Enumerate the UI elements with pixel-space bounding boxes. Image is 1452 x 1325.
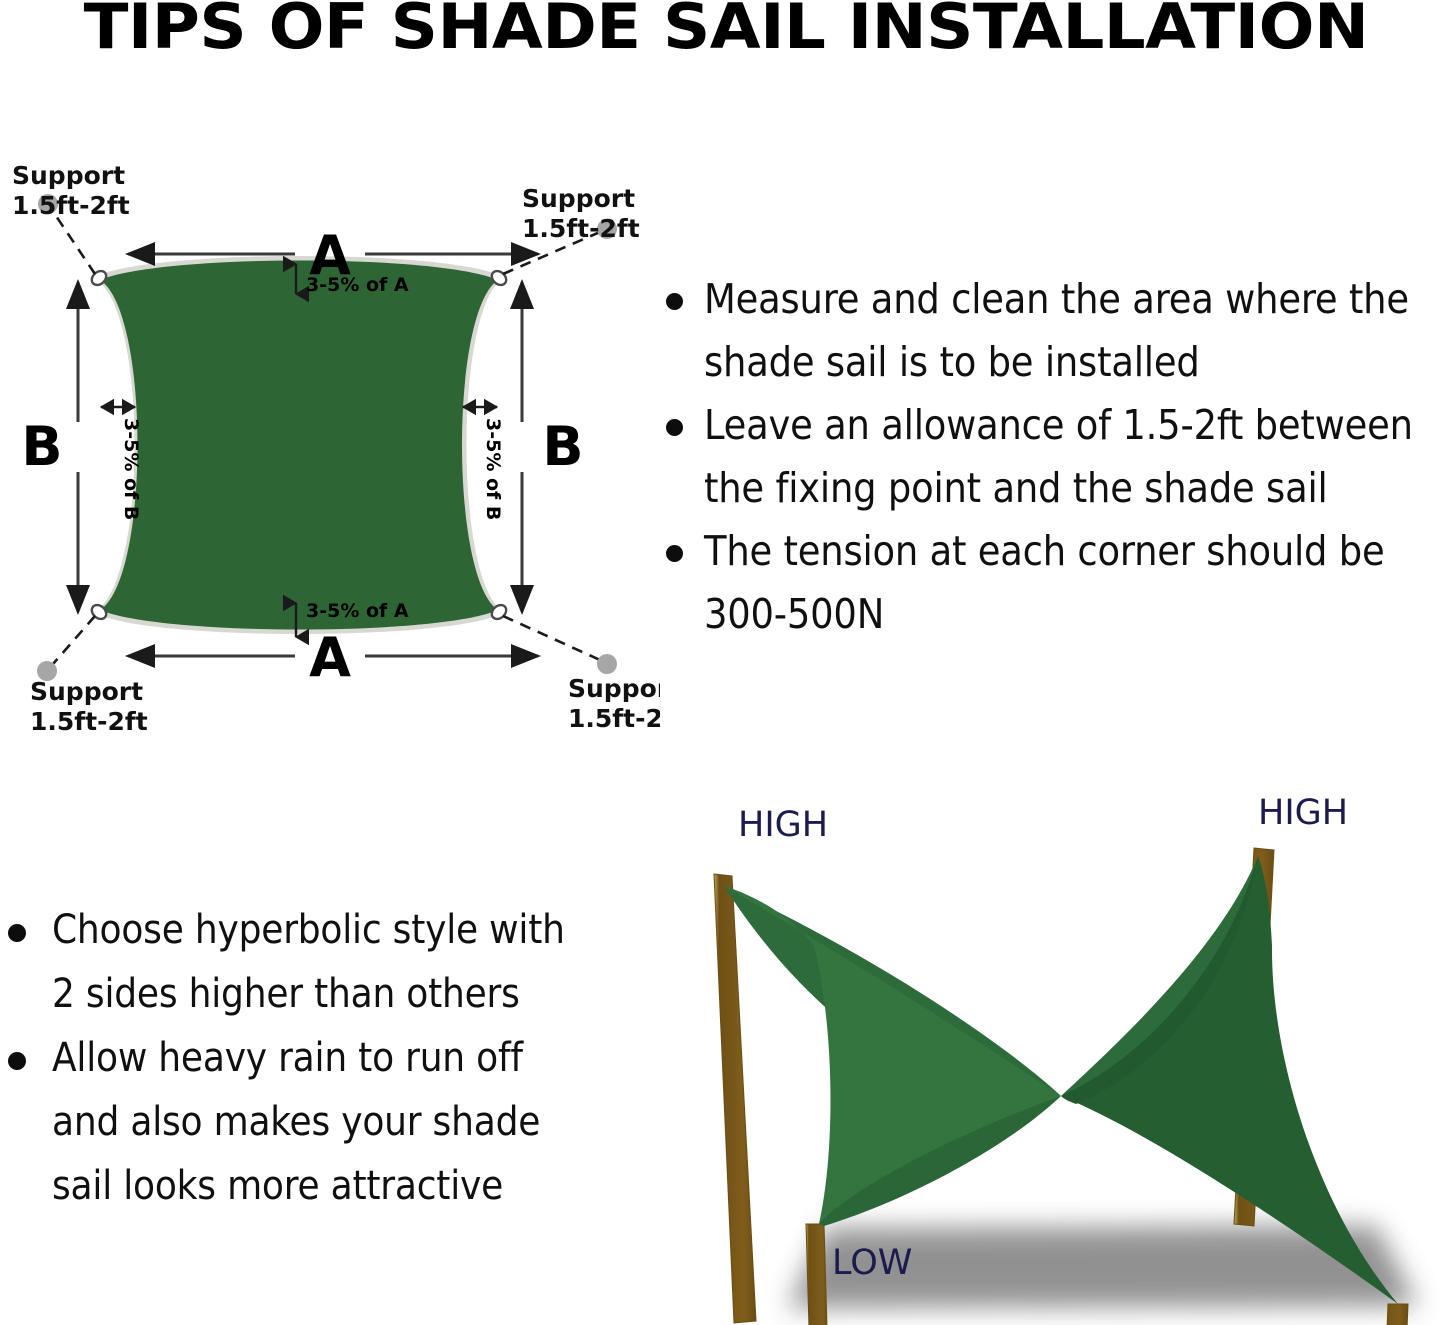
svg-text:3-5% of A: 3-5% of A <box>306 600 409 622</box>
support-line-bottom-right <box>503 616 617 674</box>
tip-line: the fixing point and the shade sail <box>704 457 1452 520</box>
dimension-label-right-b: B <box>542 415 583 478</box>
tip-line: Allow heavy rain to run off <box>52 1026 620 1090</box>
tip-item: Choose hyperbolic style with 2 sides hig… <box>0 898 620 1026</box>
tip-line: and also makes your shade <box>52 1090 620 1154</box>
svg-text:3-5% of A: 3-5% of A <box>306 274 409 296</box>
tip-line: shade sail is to be installed <box>704 331 1452 394</box>
support-label-line2: 1.5ft-2ft <box>30 707 148 736</box>
sail-body <box>100 261 498 630</box>
tip-line: Choose hyperbolic style with <box>52 898 620 962</box>
support-label-top-left: Support 1.5ft-2ft <box>12 161 130 220</box>
tip-line: Measure and clean the area where the <box>704 268 1452 331</box>
tip-item: Leave an allowance of 1.5-2ft between th… <box>648 394 1452 520</box>
tips-list-right: Measure and clean the area where the sha… <box>648 268 1452 646</box>
tips-list-left: Choose hyperbolic style with 2 sides hig… <box>0 898 620 1218</box>
support-line-bottom-left <box>37 616 95 681</box>
label-high-right: HIGH <box>1258 796 1348 833</box>
tip-item: Measure and clean the area where the sha… <box>648 268 1452 394</box>
support-label-bottom-left: Support 1.5ft-2ft <box>30 677 148 736</box>
support-label-line2: 1.5ft-2ft <box>568 704 660 733</box>
support-anchor-dot <box>597 654 617 674</box>
pole-low-right <box>1378 1304 1408 1325</box>
tip-line: 300-500N <box>704 583 1452 646</box>
support-label-top-right: Support 1.5ft-2ft <box>522 184 640 243</box>
tips-left-ul: Choose hyperbolic style with 2 sides hig… <box>0 898 620 1218</box>
svg-text:3-5% of B: 3-5% of B <box>120 418 142 520</box>
page-title: TIPS OF SHADE SAIL INSTALLATION <box>0 0 1452 59</box>
tip-line: 2 sides higher than others <box>52 962 620 1026</box>
hyperbolic-sail-diagram: HIGH HIGH LOW LOW <box>676 796 1452 1325</box>
tips-right-ul: Measure and clean the area where the sha… <box>648 268 1452 646</box>
tip-line: Leave an allowance of 1.5-2ft between <box>704 394 1452 457</box>
support-label-line2: 1.5ft-2ft <box>522 214 640 243</box>
tip-line: The tension at each corner should be <box>704 520 1452 583</box>
svg-text:3-5% of B: 3-5% of B <box>482 418 504 520</box>
tip-item: Allow heavy rain to run off and also mak… <box>0 1026 620 1218</box>
support-label-bottom-right: Support 1.5ft-2ft <box>568 674 660 733</box>
support-label-line2: 1.5ft-2ft <box>12 191 130 220</box>
label-low-left: LOW <box>832 1243 912 1283</box>
support-label-line1: Support <box>568 674 660 703</box>
dimension-label-left-b: B <box>21 415 62 478</box>
support-label-line1: Support <box>522 184 635 213</box>
label-high-left: HIGH <box>738 805 828 845</box>
support-label-line1: Support <box>30 677 143 706</box>
rectangular-sail-diagram: A A B B 3-5% of A 3-5% of A 3-5% of B 3-… <box>0 160 660 740</box>
pole-high-left <box>714 874 756 1323</box>
dimension-label-bottom-a: A <box>309 626 351 689</box>
tip-item: The tension at each corner should be 300… <box>648 520 1452 646</box>
tip-line: sail looks more attractive <box>52 1154 620 1218</box>
curvature-callout-left: 3-5% of B <box>101 407 142 520</box>
curvature-callout-right: 3-5% of B <box>463 407 504 520</box>
support-label-line1: Support <box>12 161 125 190</box>
